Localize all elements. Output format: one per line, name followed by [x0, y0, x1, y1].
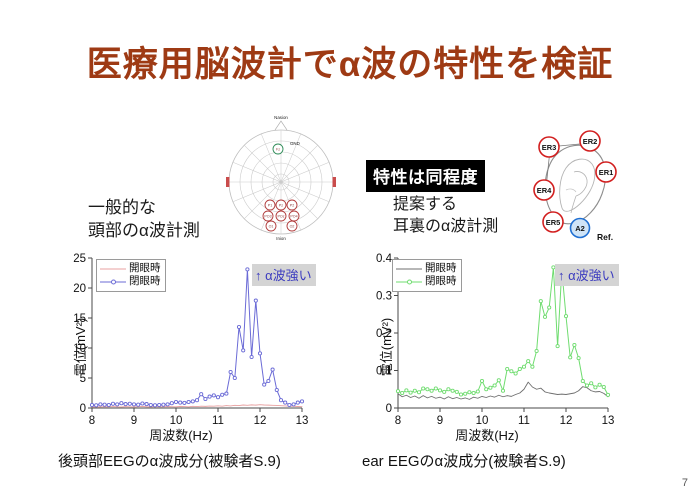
svg-text:9: 9	[131, 415, 137, 427]
highlight-badge: 特性は同程度	[366, 160, 485, 192]
svg-text:8: 8	[395, 415, 401, 427]
annotation-alpha-strong-right: ↑ α波強い	[555, 264, 619, 286]
legend-swatch-line-icon	[100, 264, 126, 274]
electrode-label-o2: O2	[290, 224, 295, 228]
svg-text:0.1: 0.1	[376, 366, 392, 378]
electrode-label-pz: Pz	[279, 203, 283, 207]
svg-text:15: 15	[73, 313, 86, 325]
page-number: 7	[682, 477, 688, 489]
svg-text:12: 12	[560, 415, 573, 427]
electrode-label-po3: PO3	[264, 214, 271, 218]
svg-text:13: 13	[296, 415, 309, 427]
right-caption-line1: 提案する	[393, 194, 498, 216]
svg-text:10: 10	[476, 415, 489, 427]
electrode-label-er3: ER3	[542, 143, 557, 152]
left-caption-line2: 頭部のα波計測	[88, 219, 200, 242]
chart-occipital-eeg: 電位(mV²) 周波数(Hz) 05101520258910111213 開眼時…	[52, 252, 310, 442]
svg-text:10: 10	[73, 343, 86, 355]
right-section-caption: 提案する 耳裏のα波計測	[393, 194, 498, 238]
figure-caption-left: 後頭部EEGのα波成分(被験者S.9)	[58, 450, 281, 471]
electrode-label-er4: ER4	[537, 186, 552, 195]
svg-text:20: 20	[73, 283, 86, 295]
svg-text:0.4: 0.4	[376, 253, 393, 265]
electrode-label-po4: PO4	[290, 214, 297, 218]
svg-text:11: 11	[518, 415, 530, 427]
head-1020-diagram: Nasion Inion	[218, 112, 344, 244]
svg-text:8: 8	[89, 415, 95, 427]
chart-left-legend: 開眼時 閉眼時	[96, 259, 166, 292]
svg-text:0.3: 0.3	[376, 291, 392, 303]
legend-swatch-line-icon	[396, 264, 422, 274]
head-map-svg: Nasion Inion	[218, 112, 344, 244]
electrode-label-p1: P1	[268, 203, 272, 207]
figure-caption-right: ear EEGのα波成分(被験者S.9)	[362, 450, 566, 471]
svg-text:25: 25	[73, 253, 86, 265]
legend-item-open-eye: 開眼時	[396, 262, 457, 275]
ear-electrode-diagram: ER1 ER2 ER3 ER4 ER5 A2 Ref.	[504, 120, 654, 248]
svg-text:9: 9	[437, 415, 443, 427]
ear-electrodes: ER1 ER2 ER3 ER4 ER5 A2	[534, 131, 616, 238]
svg-text:0: 0	[386, 403, 392, 415]
electrode-label-o1: O1	[269, 224, 274, 228]
chart-right-legend: 開眼時 閉眼時	[392, 259, 462, 292]
legend-item-closed-eye: 閉眼時	[396, 275, 457, 288]
svg-text:13: 13	[602, 415, 615, 427]
legend-item-open-eye: 開眼時	[100, 262, 161, 275]
legend-label-closed-eye: 閉眼時	[425, 275, 457, 288]
legend-label-closed-eye: 閉眼時	[129, 275, 161, 288]
legend-label-open-eye: 開眼時	[425, 262, 457, 275]
legend-swatch-marker-icon	[396, 277, 422, 287]
svg-text:11: 11	[212, 415, 224, 427]
nasion-label: Nasion	[274, 115, 288, 120]
page-title: 医療用脳波計でα波の特性を検証	[0, 36, 700, 87]
svg-text:5: 5	[80, 373, 86, 385]
left-section-caption: 一般的な 頭部のα波計測	[88, 196, 200, 243]
left-caption-line1: 一般的な	[88, 196, 200, 219]
electrode-label-er2: ER2	[583, 137, 598, 146]
ear-map-svg: ER1 ER2 ER3 ER4 ER5 A2 Ref.	[504, 120, 654, 248]
svg-text:12: 12	[254, 415, 267, 427]
electrode-label-a2: A2	[575, 224, 585, 233]
svg-text:0.2: 0.2	[376, 328, 392, 340]
gnd-label: GND	[290, 141, 300, 146]
electrode-label-p2: P2	[290, 203, 294, 207]
electrode-label-er1: ER1	[599, 168, 614, 177]
annotation-alpha-strong-left: ↑ α波強い	[252, 264, 316, 286]
electrode-label-er5: ER5	[546, 218, 561, 227]
inion-label: Inion	[276, 236, 286, 241]
svg-text:0: 0	[80, 403, 86, 415]
legend-swatch-marker-icon	[100, 277, 126, 287]
legend-item-closed-eye: 閉眼時	[100, 275, 161, 288]
right-caption-line2: 耳裏のα波計測	[393, 216, 498, 238]
electrode-label-fz: Fz	[276, 147, 280, 151]
svg-text:10: 10	[170, 415, 183, 427]
slide-root: 医療用脳波計でα波の特性を検証 Nasion Inion	[0, 0, 700, 495]
chart-ear-eeg: 電位(mV²) 周波数(Hz) 00.10.20.30.48910111213 …	[358, 252, 616, 442]
electrode-label-poz: POz	[278, 214, 285, 218]
reference-label: Ref.	[597, 232, 613, 242]
legend-label-open-eye: 開眼時	[129, 262, 161, 275]
